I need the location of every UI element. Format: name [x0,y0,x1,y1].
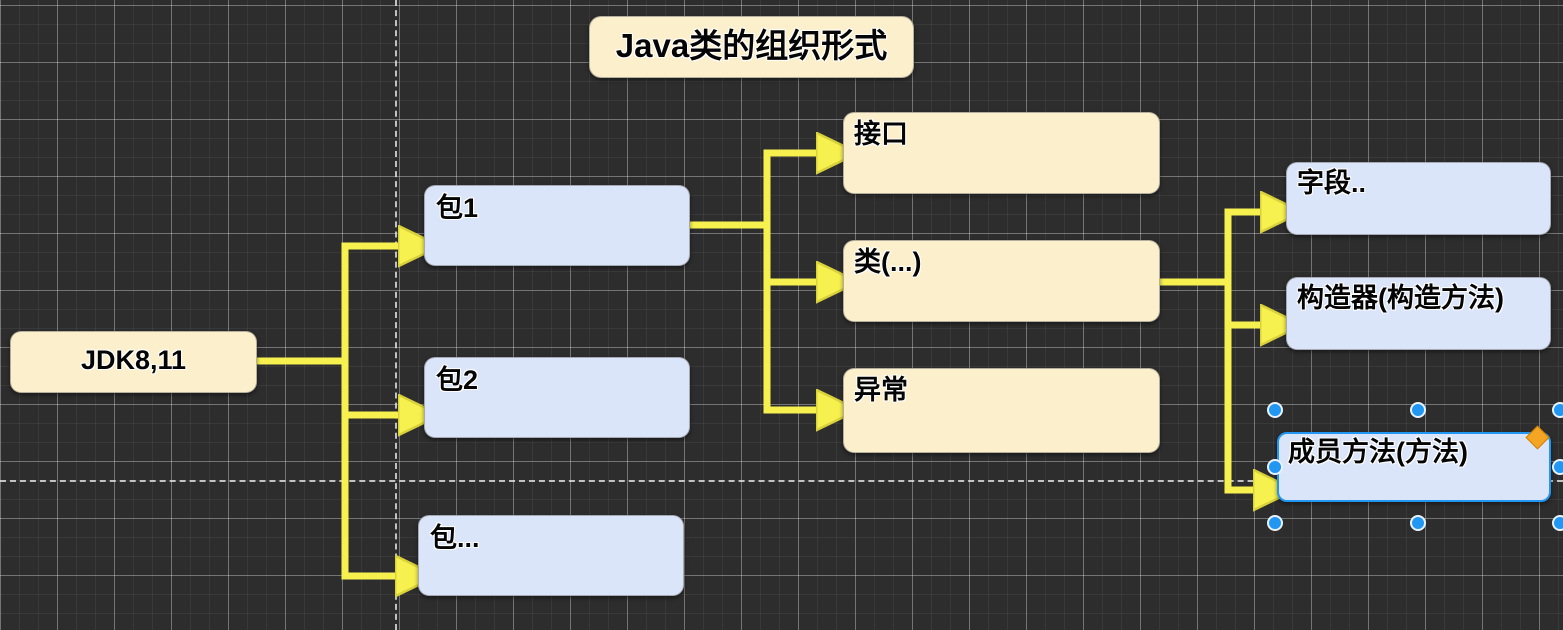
selection-handle-bottom-right[interactable] [1552,515,1563,531]
node-field-label: 字段.. [1287,163,1550,197]
node-field[interactable]: 字段.. [1286,162,1551,235]
node-package-2-label: 包2 [425,358,689,394]
connector-class-to-constructor [1228,282,1277,325]
node-constructor[interactable]: 构造器(构造方法) [1286,277,1551,350]
node-package-more-label: 包... [419,516,683,552]
node-class-label: 类(...) [844,241,1159,276]
node-member-method-label: 成员方法(方法) [1279,434,1549,466]
selection-handle-bottom-center[interactable] [1410,515,1426,531]
connector-pkg1-to-exception [767,225,833,410]
selection-handle-middle-right[interactable] [1552,459,1563,475]
diagram-canvas[interactable]: Java类的组织形式 JDK8,11 包1 包2 包... 接口 类(...) … [0,0,1563,630]
connector-root-to-pkg2 [345,361,415,415]
connector-root-to-pkgn [345,361,412,576]
node-member-method[interactable]: 成员方法(方法) [1277,432,1551,502]
selection-handle-top-center[interactable] [1410,402,1426,418]
node-jdk-root[interactable]: JDK8,11 [10,331,257,393]
selection-handle-top-left[interactable] [1267,402,1283,418]
selection-handle-middle-left[interactable] [1267,459,1283,475]
node-interface[interactable]: 接口 [843,112,1160,194]
vertical-guide [395,0,397,630]
node-package-more[interactable]: 包... [418,515,684,596]
node-package-1-label: 包1 [425,186,689,222]
node-constructor-label: 构造器(构造方法) [1287,278,1550,312]
connector-class-to-field [1160,212,1277,282]
node-package-2[interactable]: 包2 [424,357,690,438]
node-class[interactable]: 类(...) [843,240,1160,322]
connector-class-to-method [1228,282,1270,490]
connector-pkg1-to-class [767,225,833,282]
node-title[interactable]: Java类的组织形式 [589,16,914,78]
node-package-1[interactable]: 包1 [424,185,690,266]
node-title-label: Java类的组织形式 [590,17,913,64]
node-exception[interactable]: 异常 [843,368,1160,453]
connector-root-to-pkg1 [257,246,415,361]
selection-handle-bottom-left[interactable] [1267,515,1283,531]
selection-handle-top-right[interactable] [1552,402,1563,418]
node-exception-label: 异常 [844,369,1159,404]
node-interface-label: 接口 [844,113,1159,148]
connector-pkg1-to-interface [690,153,833,225]
node-jdk-root-label: JDK8,11 [11,332,256,374]
